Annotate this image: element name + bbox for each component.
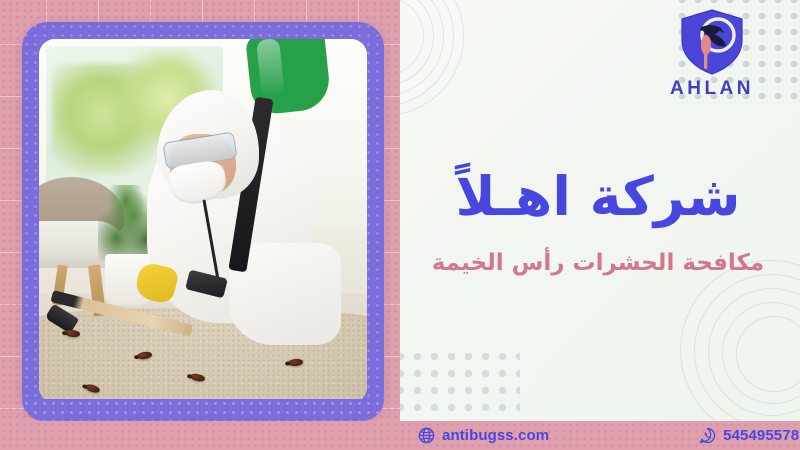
website-contact[interactable]: antibugss.com bbox=[418, 427, 549, 444]
page-title: شركة اهـلاً bbox=[418, 168, 778, 226]
pest-control-photo bbox=[39, 39, 367, 403]
logo-wordmark: AHLAN bbox=[652, 78, 772, 100]
photo-frame bbox=[22, 22, 384, 420]
phone-number: 545495578 bbox=[723, 427, 799, 444]
globe-icon bbox=[418, 427, 435, 444]
whatsapp-icon bbox=[699, 427, 716, 444]
brand-logo[interactable]: AHLAN bbox=[652, 8, 772, 100]
phone-contact[interactable]: 545495578 bbox=[699, 427, 799, 444]
promo-banner: AHLAN شركة اهـلاً مكافحة الحشرات رأس الخ… bbox=[0, 0, 800, 450]
content-panel: AHLAN شركة اهـلاً مكافحة الحشرات رأس الخ… bbox=[400, 0, 800, 450]
footer-dot-texture bbox=[0, 421, 800, 450]
frame-bottom-strip bbox=[22, 399, 384, 421]
contact-footer: antibugss.com 545495578 bbox=[0, 421, 800, 450]
dot-grid-bottom-left bbox=[400, 348, 520, 422]
shield-pest-control-icon bbox=[652, 8, 772, 76]
website-url: antibugss.com bbox=[442, 427, 549, 444]
page-subtitle: مكافحة الحشرات رأس الخيمة bbox=[418, 250, 778, 276]
